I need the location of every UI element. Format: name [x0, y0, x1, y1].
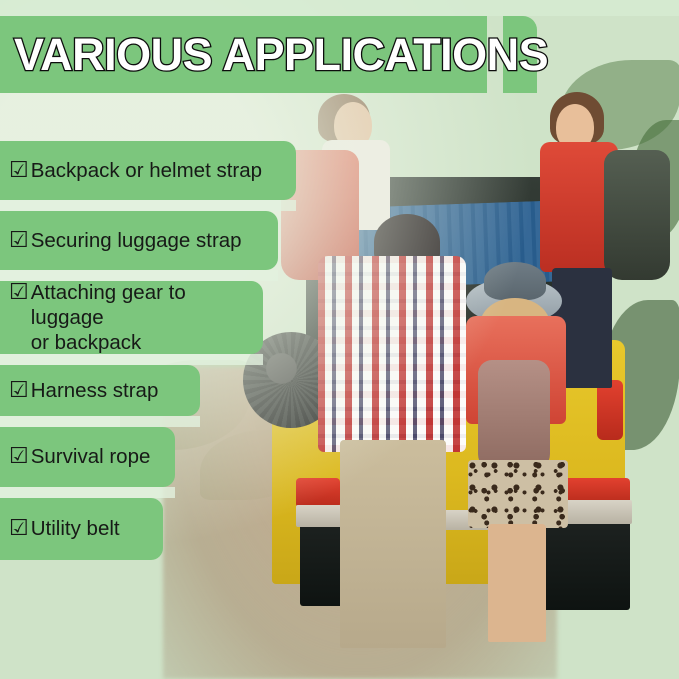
truck-mudflap-right — [536, 520, 630, 610]
bar-gap-strip — [0, 487, 175, 498]
checkbox-icon: ☑ — [9, 228, 29, 254]
feature-item-3[interactable]: ☑ Attaching gear to luggage or backpack — [0, 281, 263, 354]
checkbox-icon: ☑ — [9, 516, 29, 542]
checkbox-icon: ☑ — [9, 444, 29, 470]
feature-label: Survival rope — [31, 444, 151, 470]
feature-label: Attaching gear to luggage or backpack — [31, 280, 263, 355]
bucket-hat-crown — [484, 262, 546, 300]
bar-gap-strip — [0, 354, 263, 365]
feature-item-4[interactable]: ☑ Harness strap — [0, 365, 200, 416]
feature-label: Harness strap — [31, 378, 159, 404]
torso — [318, 256, 466, 452]
checkbox-icon: ☑ — [9, 158, 29, 184]
backpack — [604, 150, 670, 280]
feature-label: Securing luggage strap — [31, 228, 242, 254]
bar-gap-strip — [0, 200, 296, 211]
backpack — [478, 360, 550, 472]
legs — [488, 524, 546, 642]
feature-item-5[interactable]: ☑ Survival rope — [0, 427, 175, 487]
feature-item-2[interactable]: ☑ Securing luggage strap — [0, 211, 278, 270]
checkbox-icon: ☑ — [9, 378, 29, 404]
truck-side-marker — [597, 380, 623, 440]
feature-label: Utility belt — [31, 516, 120, 542]
checkbox-icon: ☑ — [9, 280, 29, 306]
feature-item-1[interactable]: ☑ Backpack or helmet strap — [0, 141, 296, 200]
feature-item-6[interactable]: ☑ Utility belt — [0, 498, 163, 560]
feature-label: Backpack or helmet strap — [31, 158, 262, 184]
legs — [340, 440, 446, 648]
product-infographic: VARIOUS APPLICATIONS ☑ Backpack or helme… — [0, 0, 679, 679]
top-accent-strip — [0, 0, 679, 16]
page-title: VARIOUS APPLICATIONS — [14, 16, 548, 93]
bar-gap-strip — [0, 416, 200, 427]
truck-taillight-left — [296, 478, 340, 508]
skirt — [468, 460, 568, 528]
